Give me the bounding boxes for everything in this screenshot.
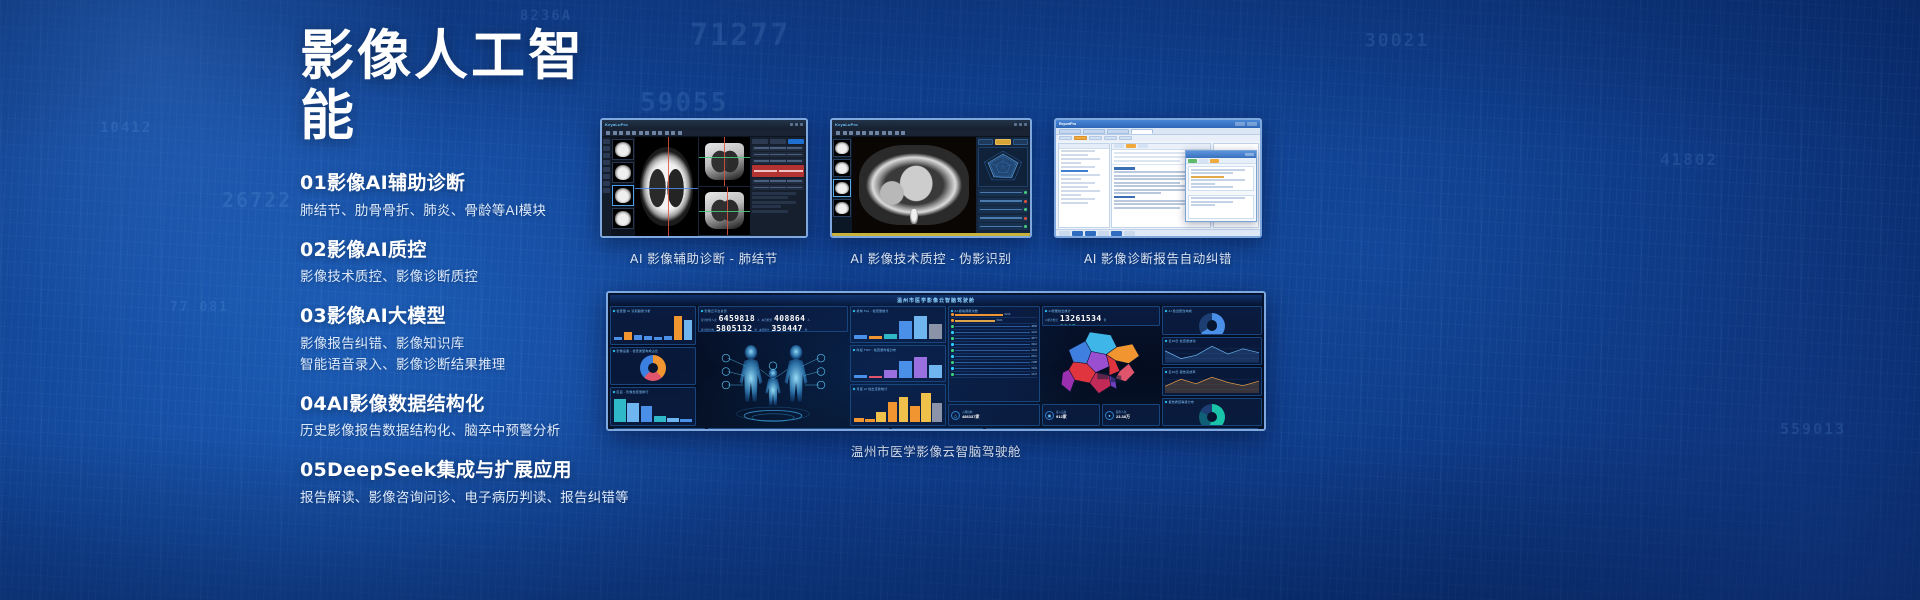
chart-card-pie-3[interactable]: 报告质控等级分布 (1162, 398, 1262, 427)
feature-item-03: 03影像AI大模型 影像报告纠错、影像知识库 智能语音录入、影像诊断结果推理 (300, 304, 630, 376)
ranking-row[interactable]: 4122 (951, 331, 1037, 336)
report-text-line (752, 192, 796, 195)
screenshot-caption-2: AI 影像技术质控 - 伪影识别 (851, 248, 1012, 267)
kpi-group: 累计检查人次 6459818 人 本月检查 408864 人 累计报告数 580… (701, 313, 845, 333)
kpi-label: AI累计检出 (1045, 318, 1058, 322)
ranking-row[interactable]: 2510 (951, 355, 1037, 360)
qc-issue-row[interactable] (978, 189, 1028, 196)
hologram-card (698, 334, 848, 426)
stat-value: 912家 (1056, 414, 1067, 420)
tool-pointer-icon[interactable] (606, 131, 610, 135)
region-map-card[interactable] (1042, 328, 1160, 402)
popup-titlebar (1186, 151, 1256, 158)
dashboard-column-3: 机构 Top - 检查量统计 时段 TOP - 检查量时段分布 (850, 306, 946, 426)
report-tab-bar[interactable] (1056, 128, 1260, 135)
kpi-value: 5805132 (716, 324, 753, 333)
screenshot-card-3[interactable]: ReportPro (1054, 118, 1262, 267)
bar-chart-5 (853, 391, 943, 424)
feature-desc-03: 影像报告纠错、影像知识库 智能语音录入、影像诊断结果推理 (300, 334, 630, 376)
line-chart-1 (1165, 343, 1259, 363)
dashboard-card[interactable]: 温州市医学影像云智脑驾驶舱 检查量 AI 识别趋势分析 (606, 291, 1266, 460)
series-thumb[interactable] (612, 139, 634, 160)
dashboard-column-5: AI智能检出统计 AI累计检出 13261534 例 今日检出数 3287 例 (1042, 306, 1160, 426)
kpi-label: 累计检查人次 (701, 318, 717, 322)
popup-close-icon[interactable] (1245, 153, 1254, 156)
qc-toolbar[interactable] (832, 129, 1030, 137)
stat-card-row: △ 入网机构 486337家 (948, 404, 1040, 426)
feature-item-05: 05DeepSeek集成与扩展应用 报告解读、影像咨询问诊、电子病历判读、报告纠… (300, 458, 630, 509)
background-digit: 71277 (690, 18, 790, 53)
ct-left-rail[interactable] (602, 137, 611, 236)
feature-desc-05: 报告解读、影像咨询问诊、电子病历判读、报告纠错等 (300, 488, 630, 509)
qc-series-thumbnails[interactable] (832, 137, 852, 233)
tool-reset-icon[interactable] (895, 131, 899, 135)
ct-viewer-app: KeyaLuPro (602, 120, 806, 236)
wenzhou-region-map[interactable] (1043, 329, 1159, 401)
bar-chart-1 (613, 313, 693, 343)
panel-btn-ai-active[interactable] (788, 139, 804, 144)
ct-coronal-view[interactable] (699, 137, 750, 187)
screenshot-caption-3: AI 影像诊断报告自动纠错 (1084, 248, 1232, 267)
app-brand-label: KeyaLuPro (605, 122, 628, 127)
page-title: 影像人工智能 (300, 26, 630, 147)
tool-reset-icon[interactable] (658, 131, 662, 135)
ai-correction-popup[interactable] (1185, 150, 1257, 222)
bar-chart-4 (853, 352, 943, 380)
kpi-label: 本月检查 (762, 318, 772, 322)
kpi-label: 累计报告数 (701, 328, 714, 332)
dashboard-caption: 温州市医学影像云智脑驾驶舱 (851, 441, 1021, 460)
kpi-value: 13261534 (1060, 314, 1102, 323)
tab-report-active[interactable] (1131, 129, 1153, 134)
chart-card-bar-2[interactable]: 区县 - 影像检查量排行 (610, 387, 696, 426)
sub-btn-ai-check[interactable] (1074, 136, 1087, 140)
tool-pan-icon[interactable] (619, 131, 623, 135)
popup-toolbar[interactable] (1186, 158, 1256, 164)
window-controls[interactable] (1235, 122, 1257, 126)
editor-btn-template[interactable] (1138, 144, 1148, 148)
series-thumb[interactable] (833, 139, 851, 157)
tool-annotate-icon[interactable] (652, 131, 656, 135)
finding-row[interactable] (752, 179, 804, 184)
dashboard-column-4: AI 模块调用次数 6213 5104 4890 4122 3877 3310 … (948, 306, 1040, 426)
chart-card-pie-2[interactable]: AI 检出阳性构成 (1162, 306, 1262, 335)
finding-row[interactable] (752, 152, 804, 157)
app-brand-label: ReportPro (1059, 122, 1076, 126)
report-worklist-tree[interactable] (1058, 143, 1110, 228)
window-controls[interactable] (1014, 123, 1027, 126)
chart-card-bar-3[interactable]: 机构 Top - 检查量统计 (850, 306, 946, 343)
right-media-column: KeyaLuPro (600, 118, 1890, 460)
feature-desc-02: 影像技术质控、影像诊断质控 (300, 267, 630, 288)
dashboard-image[interactable]: 温州市医学影像云智脑驾驶舱 检查量 AI 识别趋势分析 (606, 291, 1266, 431)
background-digit: 59055 (640, 88, 728, 118)
foot-btn-print[interactable] (1098, 231, 1109, 236)
chart-card-line-2[interactable]: 近30日 报告完成率 (1162, 367, 1262, 396)
series-thumb[interactable] (612, 208, 634, 229)
sub-btn-sign[interactable] (1119, 136, 1132, 140)
kpi-row: 累计报告数 5805132 份 本月报告 358447 份 (701, 324, 845, 333)
kpi-label: 本月报告 (759, 328, 769, 332)
dashboard-header: 温州市医学影像云智脑驾驶舱 (610, 295, 1262, 306)
chart-card-bar-4[interactable]: 时段 TOP - 检查量时段分布 (850, 345, 946, 382)
qc-body (832, 137, 1030, 233)
chart-card-area-1[interactable]: 月度 AI 检出走势统计 (850, 384, 946, 426)
background-digit: 77 081 (170, 300, 229, 315)
feature-desc-line: 智能语音录入、影像诊断结果推理 (300, 355, 630, 376)
qc-issue-row[interactable] (978, 215, 1028, 222)
feature-title-02: 02影像AI质控 (300, 238, 630, 263)
qc-tab-artifact-active[interactable] (995, 139, 1010, 145)
dashboard-grid: 检查量 AI 识别趋势分析 影像设备 - 检查类型构成占比 区县 (610, 306, 1262, 426)
ranking-card[interactable]: AI 模块调用次数 6213 5104 4890 4122 3877 3310 … (948, 306, 1040, 402)
report-text-line (752, 201, 796, 204)
bar-chart-3 (853, 313, 943, 341)
kpi-unit: 份 (805, 328, 808, 332)
people-icon: ● (1105, 411, 1114, 420)
ct-sagittal-view[interactable] (699, 187, 750, 237)
sub-btn-print[interactable] (1104, 136, 1117, 140)
kpi-value: 408864 (774, 314, 805, 323)
tool-invert-icon[interactable] (888, 131, 892, 135)
series-thumb[interactable] (833, 199, 851, 217)
ct-image-area[interactable] (635, 137, 750, 236)
stat-value: 23.38万 (1116, 414, 1130, 420)
feature-title-03: 03影像AI大模型 (300, 304, 630, 329)
background-digit: 26722 (222, 188, 292, 212)
report-titlebar: ReportPro (1056, 120, 1260, 128)
qc-status-strip (832, 233, 1030, 236)
report-text-line (752, 210, 788, 213)
ct-titlebar: KeyaLuPro (602, 120, 806, 129)
stat-card[interactable]: ● 服务人次 23.38万 (1102, 404, 1160, 426)
tool-window-icon[interactable] (626, 131, 630, 135)
report-correction-app: ReportPro (1056, 120, 1260, 236)
feature-item-04: 04AI影像数据结构化 历史影像报告数据结构化、脑卒中预警分析 (300, 392, 630, 443)
dashboard-column-2: 影像云平台总览 累计检查人次 6459818 人 本月检查 408864 人 (698, 306, 848, 426)
tool-save-icon[interactable] (678, 131, 682, 135)
ranking-row[interactable]: 5104 (951, 319, 1037, 324)
foot-btn-close[interactable] (1124, 231, 1135, 236)
tool-pointer-icon[interactable] (836, 131, 840, 135)
qc-image-view[interactable] (852, 137, 976, 233)
kpi-value: 358447 (771, 324, 802, 333)
qc-tab-diagnostic[interactable] (1013, 139, 1028, 145)
hospital-icon: △ (951, 411, 960, 420)
ct-series-thumbnails[interactable] (611, 137, 635, 236)
report-text-line (752, 205, 781, 208)
foot-btn-submit[interactable] (1085, 231, 1096, 236)
stat-value: 486337家 (962, 414, 979, 420)
bar-chart-2 (613, 394, 693, 424)
kpi-value: 3287 (1060, 324, 1076, 327)
dashboard-column-1: 检查量 AI 识别趋势分析 影像设备 - 检查类型构成占比 区县 (610, 306, 696, 426)
donut-chart-3 (1165, 404, 1259, 426)
feature-title-01: 01影像AI辅助诊断 (300, 171, 630, 196)
ai-kpi-group: AI累计检出 13261534 例 今日检出数 3287 例 (1045, 313, 1157, 327)
ai-kpi-card[interactable]: AI智能检出统计 AI累计检出 13261534 例 今日检出数 3287 例 (1042, 306, 1160, 326)
ranking-row[interactable]: 2944 (951, 349, 1037, 354)
popup-btn-accept[interactable] (1188, 159, 1197, 163)
report-text-line (752, 196, 788, 199)
finding-row[interactable] (752, 159, 804, 164)
tab-worklist[interactable] (1059, 129, 1081, 134)
feature-title-04: 04AI影像数据结构化 (300, 392, 630, 417)
screenshot-thumbnail-row: KeyaLuPro (600, 118, 1890, 267)
editor-btn-bold[interactable] (1114, 144, 1124, 148)
kpi-unit: 人 (807, 318, 810, 322)
foot-btn-sign[interactable] (1111, 231, 1122, 236)
ct-axial-view[interactable] (635, 137, 699, 236)
donut-chart-1 (613, 353, 693, 383)
tab-template[interactable] (1107, 129, 1129, 134)
tool-layout-icon[interactable] (882, 131, 886, 135)
tool-pan-icon[interactable] (849, 131, 853, 135)
tool-invert-icon[interactable] (671, 131, 675, 135)
popup-suggestion-list[interactable] (1188, 166, 1254, 191)
feature-item-01: 01影像AI辅助诊断 肺结节、肋骨骨折、肺炎、骨龄等AI模块 (300, 171, 630, 222)
screenshot-image-3[interactable]: ReportPro (1054, 118, 1262, 238)
kpi-row: 累计检查人次 6459818 人 本月检查 408864 人 (701, 314, 845, 323)
tool-window-icon[interactable] (856, 131, 860, 135)
left-content-column: 影像人工智能 01影像AI辅助诊断 肺结节、肋骨骨折、肺炎、骨龄等AI模块 02… (300, 26, 630, 509)
foot-btn-prev[interactable] (1059, 231, 1070, 236)
tool-zoom-icon[interactable] (613, 131, 617, 135)
feature-desc-01: 肺结节、肋骨骨折、肺炎、骨龄等AI模块 (300, 201, 630, 222)
sub-btn-save[interactable] (1089, 136, 1102, 140)
donut-chart-2 (1165, 313, 1259, 335)
ct-secondary-views (699, 137, 750, 236)
feature-desc-line: 报告解读、影像咨询问诊、电子病历判读、报告纠错等 (300, 488, 630, 509)
kpi-row: 今日检出数 3287 例 (1045, 324, 1157, 327)
background-digit: 10412 (100, 120, 152, 136)
report-footer-actions[interactable] (1056, 229, 1260, 236)
dashboard-footer (610, 426, 1262, 431)
app-brand-label: KeyaLuPro (835, 122, 858, 127)
screenshot-image-1[interactable]: KeyaLuPro (600, 118, 808, 238)
dashboard-column-6: AI 检出阳性构成 近30日 检查量波动 (1162, 306, 1262, 426)
kpi-row: AI累计检出 13261534 例 (1045, 314, 1157, 323)
tool-annotate-icon[interactable] (875, 131, 879, 135)
panel-btn-compare[interactable] (770, 139, 786, 144)
background-digit: 8236A (520, 8, 572, 24)
popup-btn-recheck[interactable] (1210, 159, 1219, 163)
ranking-row[interactable]: 4890 (951, 325, 1037, 330)
series-thumb[interactable] (612, 162, 634, 183)
line-chart-2 (1165, 374, 1259, 394)
screenshot-card-2[interactable]: KeyaLuPro (830, 118, 1032, 267)
tool-measure-icon[interactable] (632, 131, 636, 135)
holographic-human-figure (701, 337, 845, 425)
finding-row[interactable] (752, 146, 804, 151)
screenshot-image-2[interactable]: KeyaLuPro (830, 118, 1032, 238)
ranking-row[interactable]: 1647 (951, 373, 1037, 378)
feature-desc-line: 影像报告纠错、影像知识库 (300, 334, 630, 355)
kpi-unit: 例 (1104, 318, 1107, 322)
tab-history[interactable] (1083, 129, 1105, 134)
ct-body (602, 137, 806, 236)
series-thumb-selected[interactable] (833, 179, 851, 197)
feature-desc-line: 影像技术质控、影像诊断质控 (300, 267, 630, 288)
window-controls[interactable] (790, 123, 803, 126)
tool-roi-icon[interactable] (869, 131, 873, 135)
screenshot-card-1[interactable]: KeyaLuPro (600, 118, 808, 267)
ranking-row[interactable]: 6213 (951, 313, 1037, 318)
screenshot-caption-1: AI 影像辅助诊断 - 肺结节 (630, 248, 778, 267)
qc-issue-list[interactable] (978, 189, 1028, 231)
sub-btn-new[interactable] (1059, 136, 1072, 140)
qc-tab-group[interactable] (978, 139, 1028, 145)
kpi-unit: 例 (1078, 326, 1081, 327)
qc-tab-technical[interactable] (978, 139, 993, 145)
kpi-unit: 人 (757, 318, 760, 322)
qc-titlebar: KeyaLuPro (832, 120, 1030, 129)
stat-card-row-2: ▣ 接入设备 912家 ● 服务人次 23.38万 (1042, 404, 1160, 426)
qc-issue-row[interactable] (978, 198, 1028, 205)
tree-rows[interactable] (1059, 149, 1109, 227)
series-thumb-selected[interactable] (612, 185, 634, 206)
ranking-row[interactable]: 3877 (951, 337, 1037, 342)
kpi-value: 6459818 (719, 314, 756, 323)
chart-card-line-1[interactable]: 近30日 检查量波动 (1162, 337, 1262, 366)
stat-card[interactable]: ▣ 接入设备 912家 (1042, 404, 1100, 426)
popup-btn-ignore[interactable] (1199, 159, 1208, 163)
ct-toolbar[interactable] (602, 129, 806, 137)
background-digit: 30021 (1365, 30, 1429, 51)
feature-desc-line: 肺结节、肋骨骨折、肺炎、骨龄等AI模块 (300, 201, 630, 222)
device-icon: ▣ (1045, 411, 1054, 420)
finding-row[interactable] (752, 185, 804, 190)
ct-findings-panel[interactable] (750, 137, 806, 236)
qc-issue-row[interactable] (978, 206, 1028, 213)
tool-angle-icon[interactable] (639, 131, 643, 135)
kpi-unit: 份 (754, 328, 757, 332)
series-thumb[interactable] (833, 159, 851, 177)
feature-desc-04: 历史影像报告数据结构化、脑卒中预警分析 (300, 421, 630, 442)
qc-issue-row[interactable] (978, 223, 1028, 230)
finding-row-alert[interactable] (752, 165, 804, 177)
ranking-row[interactable]: 1903 (951, 367, 1037, 372)
feature-title-05: 05DeepSeek集成与扩展应用 (300, 458, 630, 483)
qc-viewer-app: KeyaLuPro (832, 120, 1030, 236)
tool-export-icon[interactable] (901, 131, 905, 135)
stat-card[interactable]: △ 入网机构 486337家 (948, 404, 1040, 426)
foot-btn-save[interactable] (1072, 231, 1083, 236)
feature-desc-line: 历史影像报告数据结构化、脑卒中预警分析 (300, 421, 630, 442)
qc-radar-chart (978, 147, 1028, 187)
chart-card-bar-1[interactable]: 检查量 AI 识别趋势分析 (610, 306, 696, 345)
kpi-card-main[interactable]: 影像云平台总览 累计检查人次 6459818 人 本月检查 408864 人 (698, 306, 848, 332)
chart-card-pie-1[interactable]: 影像设备 - 检查类型构成占比 (610, 347, 696, 386)
tool-layout-icon[interactable] (665, 131, 669, 135)
tool-roi-icon[interactable] (645, 131, 649, 135)
ranking-list[interactable]: 6213 5104 4890 4122 3877 3310 2944 2510 … (951, 313, 1037, 400)
editor-btn-highlight[interactable] (1126, 144, 1136, 148)
kpi-label: 今日检出数 (1045, 326, 1058, 327)
tool-zoom-icon[interactable] (843, 131, 847, 135)
feature-item-02: 02影像AI质控 影像技术质控、影像诊断质控 (300, 238, 630, 289)
ranking-row[interactable]: 3310 (951, 343, 1037, 348)
tool-measure-icon[interactable] (862, 131, 866, 135)
panel-button-group[interactable] (752, 139, 804, 144)
ranking-row[interactable]: 2188 (951, 361, 1037, 366)
panel-btn-review[interactable] (752, 139, 768, 144)
dashboard-header-title: 温州市医学影像云智脑驾驶舱 (897, 297, 975, 304)
qc-quality-panel[interactable] (976, 137, 1030, 233)
popup-detail-list[interactable] (1188, 195, 1254, 220)
